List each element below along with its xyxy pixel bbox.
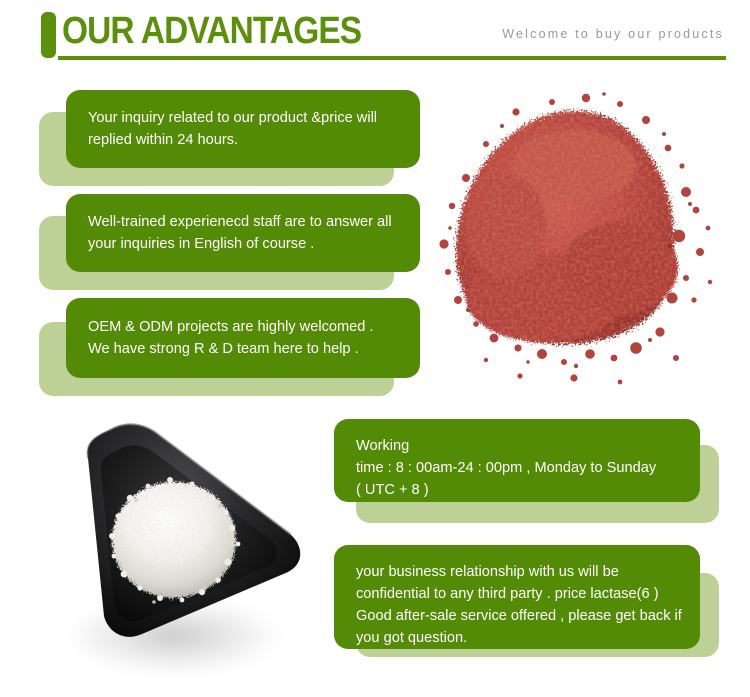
- page-title: OUR ADVANTAGES: [62, 8, 361, 54]
- advantage-card-working-time: Working time : 8 : 00am-24 : 00pm , Mond…: [334, 419, 719, 531]
- card-text: Well-trained experienecd staff are to an…: [88, 211, 406, 255]
- card-body: Working time : 8 : 00am-24 : 00pm , Mond…: [334, 419, 700, 502]
- card-text: Working time : 8 : 00am-24 : 00pm , Mond…: [356, 435, 686, 501]
- advantage-card-oem-odm: OEM & ODM projects are highly welcomed .…: [39, 298, 420, 396]
- red-powder-illustration: [424, 86, 730, 402]
- card-body: Well-trained experienecd staff are to an…: [66, 194, 420, 272]
- advantage-card-confidentiality: your business relationship with us will …: [334, 545, 719, 675]
- card-body: Your inquiry related to our product &pri…: [66, 90, 420, 168]
- card-text: your business relationship with us will …: [356, 561, 686, 649]
- advantage-card-trained-staff: Well-trained experienecd staff are to an…: [39, 194, 420, 290]
- bowl-photo: [32, 412, 332, 688]
- advantages-banner: OUR ADVANTAGES Welcome to buy our produc…: [0, 0, 750, 697]
- title-divider: [58, 56, 726, 60]
- card-body: OEM & ODM projects are highly welcomed .…: [66, 298, 420, 378]
- page-header: OUR ADVANTAGES Welcome to buy our produc…: [0, 0, 750, 72]
- white-powder-bowl-illustration: [32, 412, 332, 688]
- card-body: your business relationship with us will …: [334, 545, 700, 649]
- card-text: OEM & ODM projects are highly welcomed .…: [88, 316, 406, 360]
- header-tagline: Welcome to buy our products: [502, 27, 724, 41]
- red-powder-photo: [424, 86, 730, 402]
- advantage-card-inquiry-response: Your inquiry related to our product &pri…: [39, 90, 420, 186]
- card-text: Your inquiry related to our product &pri…: [88, 107, 406, 151]
- accent-bar-icon: [41, 12, 56, 58]
